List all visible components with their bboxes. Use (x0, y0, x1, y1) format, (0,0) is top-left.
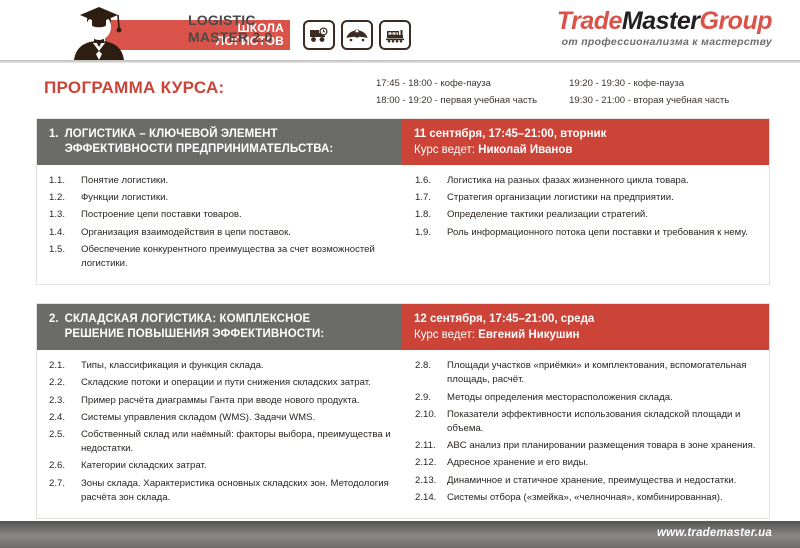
website-url[interactable]: www.trademaster.ua (657, 527, 772, 539)
section-2-header: 2. СКЛАДСКАЯ ЛОГИСТИКА: КОМПЛЕКСНОЕ РЕШЕ… (37, 304, 769, 350)
list-item: 1.1.Понятие логистики. (49, 174, 393, 188)
transport-mode-icons (303, 20, 411, 50)
item-text: Системы отбора («змейка», «челночная», к… (447, 491, 759, 505)
page-footer: www.trademaster.ua (0, 521, 800, 548)
item-index: 2.13. (415, 474, 447, 488)
item-index: 2.4. (49, 411, 81, 425)
course-title-line2: MASTER 2.0 (188, 29, 272, 46)
list-item: 1.4.Организация взаимодействия в цепи по… (49, 226, 393, 240)
item-text: Понятие логистики. (81, 174, 393, 188)
section-1-title: ЛОГИСТИКА – КЛЮЧЕВОЙ ЭЛЕМЕНТ ЭФФЕКТИВНОС… (65, 127, 334, 157)
section-2-lecturer-label: Курс ведет: (414, 329, 478, 341)
item-text: Стратегия организации логистики на предп… (447, 191, 759, 205)
list-item: 1.9.Роль информационного потока цепи пос… (415, 226, 759, 240)
section-1-right-column: 1.6.Логистика на разных фазах жизненного… (403, 174, 769, 274)
item-index: 2.5. (49, 428, 81, 456)
section-2-number: 2. (49, 313, 59, 325)
list-item: 2.5.Собственный склад или наёмный: факто… (49, 428, 393, 456)
list-item: 2.7.Зоны склада. Характеристика основных… (49, 477, 393, 505)
course-section-1: 1. ЛОГИСТИКА – КЛЮЧЕВОЙ ЭЛЕМЕНТ ЭФФЕКТИВ… (36, 118, 770, 285)
item-index: 1.5. (49, 243, 81, 271)
item-text: Динамичное и статичное хранение, преимущ… (447, 474, 759, 488)
course-section-2: 2. СКЛАДСКАЯ ЛОГИСТИКА: КОМПЛЕКСНОЕ РЕШЕ… (36, 303, 770, 519)
item-text: Площади участков «приёмки» и комплектова… (447, 359, 759, 387)
item-index: 2.11. (415, 439, 447, 453)
item-index: 2.10. (415, 408, 447, 436)
section-2-title-line2: РЕШЕНИЕ ПОВЫШЕНИЯ ЭФФЕКТИВНОСТИ: (65, 327, 325, 342)
item-index: 2.7. (49, 477, 81, 505)
item-index: 2.6. (49, 459, 81, 473)
list-item: 1.6.Логистика на разных фазах жизненного… (415, 174, 759, 188)
item-text: Построение цепи поставки товаров. (81, 208, 393, 222)
item-index: 1.2. (49, 191, 81, 205)
item-text: Адресное хранение и его виды. (447, 456, 759, 470)
item-index: 2.3. (49, 394, 81, 408)
item-index: 1.4. (49, 226, 81, 240)
list-item: 1.8.Определение тактики реализации страт… (415, 208, 759, 222)
section-1-title-panel: 1. ЛОГИСТИКА – КЛЮЧЕВОЙ ЭЛЕМЕНТ ЭФФЕКТИВ… (37, 119, 402, 165)
section-2-title-line1: СКЛАДСКАЯ ЛОГИСТИКА: КОМПЛЕКСНОЕ (65, 312, 325, 327)
item-text: Логистика на разных фазах жизненного цик… (447, 174, 759, 188)
item-text: Собственный склад или наёмный: факторы в… (81, 428, 393, 456)
schedule-column-2: 19:20 - 19:30 - кофе-пауза 19:30 - 21:00… (569, 75, 729, 109)
section-2-body: 2.1.Типы, классификация и функция склада… (37, 350, 769, 518)
program-row: ПРОГРАММА КУРСА: 17:45 - 18:00 - кофе-па… (0, 62, 800, 118)
list-item: 2.8.Площади участков «приёмки» и комплек… (415, 359, 759, 387)
list-item: 2.3.Пример расчёта диаграммы Ганта при в… (49, 394, 393, 408)
item-index: 1.8. (415, 208, 447, 222)
item-text: Методы определения месторасположения скл… (447, 391, 759, 405)
list-item: 1.3.Построение цепи поставки товаров. (49, 208, 393, 222)
item-index: 1.7. (415, 191, 447, 205)
item-text: Пример расчёта диаграммы Ганта при вводе… (81, 394, 393, 408)
schedule-item: 18:00 - 19:20 - первая учебная часть (376, 92, 537, 109)
course-title-line1: LOGISTIC (188, 12, 272, 29)
airplane-icon (341, 20, 373, 50)
list-item: 2.2.Складские потоки и операции и пути с… (49, 376, 393, 390)
item-text: Типы, классификация и функция склада. (81, 359, 393, 373)
item-text: Категории складских затрат. (81, 459, 393, 473)
graduate-silhouette-icon (64, 2, 134, 60)
item-index: 2.1. (49, 359, 81, 373)
item-text: Складские потоки и операции и пути сниже… (81, 376, 393, 390)
list-item: 1.2.Функции логистики. (49, 191, 393, 205)
trademaster-group-logo: TradeMasterGroup от профессионализма к м… (557, 8, 772, 48)
section-1-body: 1.1.Понятие логистики. 1.2.Функции логис… (37, 165, 769, 284)
list-item: 1.7.Стратегия организации логистики на п… (415, 191, 759, 205)
brand-tagline: от профессионализма к мастерству (557, 36, 772, 48)
truck-clock-icon (303, 20, 335, 50)
item-text: Роль информационного потока цепи поставк… (447, 226, 759, 240)
schedule-column-1: 17:45 - 18:00 - кофе-пауза 18:00 - 19:20… (376, 75, 537, 109)
item-text: ABC анализ при планировании размещения т… (447, 439, 759, 453)
list-item: 2.14.Системы отбора («змейка», «челночна… (415, 491, 759, 505)
item-index: 1.6. (415, 174, 447, 188)
section-1-lecturer: Курс ведет: Николай Иванов (414, 142, 769, 158)
list-item: 2.9.Методы определения месторасположения… (415, 391, 759, 405)
item-text: Функции логистики. (81, 191, 393, 205)
section-1-lecturer-name: Николай Иванов (478, 144, 572, 156)
schedule-item: 17:45 - 18:00 - кофе-пауза (376, 75, 537, 92)
section-2-title-panel: 2. СКЛАДСКАЯ ЛОГИСТИКА: КОМПЛЕКСНОЕ РЕШЕ… (37, 304, 402, 350)
section-1-date: 11 сентября, 17:45–21:00, вторник (414, 126, 769, 142)
item-index: 2.12. (415, 456, 447, 470)
list-item: 1.5.Обеспечение конкурентного преимущест… (49, 243, 393, 271)
item-text: Обеспечение конкурентного преимущества з… (81, 243, 393, 271)
section-1-header: 1. ЛОГИСТИКА – КЛЮЧЕВОЙ ЭЛЕМЕНТ ЭФФЕКТИВ… (37, 119, 769, 165)
section-1-title-line1: ЛОГИСТИКА – КЛЮЧЕВОЙ ЭЛЕМЕНТ (65, 127, 334, 142)
item-index: 1.3. (49, 208, 81, 222)
brand-part-trade: Trade (557, 7, 622, 35)
brand-part-master: Master (622, 7, 700, 35)
item-text: Системы управления складом (WMS). Задачи… (81, 411, 393, 425)
train-icon (379, 20, 411, 50)
list-item: 2.10.Показатели эффективности использова… (415, 408, 759, 436)
section-1-lecturer-label: Курс ведет: (414, 144, 478, 156)
item-text: Показатели эффективности использования с… (447, 408, 759, 436)
schedule-block: 17:45 - 18:00 - кофе-пауза 18:00 - 19:20… (376, 75, 729, 109)
item-index: 1.1. (49, 174, 81, 188)
section-2-meta-panel: 12 сентября, 17:45–21:00, среда Курс вед… (402, 304, 769, 350)
item-text: Зоны склада. Характеристика основных скл… (81, 477, 393, 505)
item-index: 1.9. (415, 226, 447, 240)
section-2-left-column: 2.1.Типы, классификация и функция склада… (37, 359, 403, 508)
section-2-lecturer: Курс ведет: Евгений Никушин (414, 327, 769, 343)
section-1-left-column: 1.1.Понятие логистики. 1.2.Функции логис… (37, 174, 403, 274)
course-title: LOGISTIC MASTER 2.0 (188, 12, 272, 46)
section-2-lecturer-name: Евгений Никушин (478, 329, 579, 341)
brand-name: TradeMasterGroup (557, 8, 772, 35)
item-index: 2.14. (415, 491, 447, 505)
section-1-meta-panel: 11 сентября, 17:45–21:00, вторник Курс в… (402, 119, 769, 165)
list-item: 2.6.Категории складских затрат. (49, 459, 393, 473)
list-item: 2.4.Системы управления складом (WMS). За… (49, 411, 393, 425)
item-index: 2.9. (415, 391, 447, 405)
schedule-item: 19:20 - 19:30 - кофе-пауза (569, 75, 729, 92)
page-title: ПРОГРАММА КУРСА: (44, 78, 225, 98)
brand-part-group: Group (700, 7, 773, 35)
item-text: Организация взаимодействия в цепи постав… (81, 226, 393, 240)
list-item: 2.12.Адресное хранение и его виды. (415, 456, 759, 470)
section-2-title: СКЛАДСКАЯ ЛОГИСТИКА: КОМПЛЕКСНОЕ РЕШЕНИЕ… (65, 312, 325, 342)
page-header: ШКОЛА ЛОГИСТОВ (0, 0, 800, 62)
item-index: 2.8. (415, 359, 447, 387)
section-1-number: 1. (49, 128, 59, 140)
list-item: 2.1.Типы, классификация и функция склада… (49, 359, 393, 373)
section-2-date: 12 сентября, 17:45–21:00, среда (414, 311, 769, 327)
list-item: 2.11.ABC анализ при планировании размеще… (415, 439, 759, 453)
section-1-title-line2: ЭФФЕКТИВНОСТИ ПРЕДПРИНИМАТЕЛЬСТВА: (65, 142, 334, 157)
section-2-right-column: 2.8.Площади участков «приёмки» и комплек… (403, 359, 769, 508)
schedule-item: 19:30 - 21:00 - вторая учебная часть (569, 92, 729, 109)
item-index: 2.2. (49, 376, 81, 390)
item-text: Определение тактики реализации стратегий… (447, 208, 759, 222)
list-item: 2.13.Динамичное и статичное хранение, пр… (415, 474, 759, 488)
